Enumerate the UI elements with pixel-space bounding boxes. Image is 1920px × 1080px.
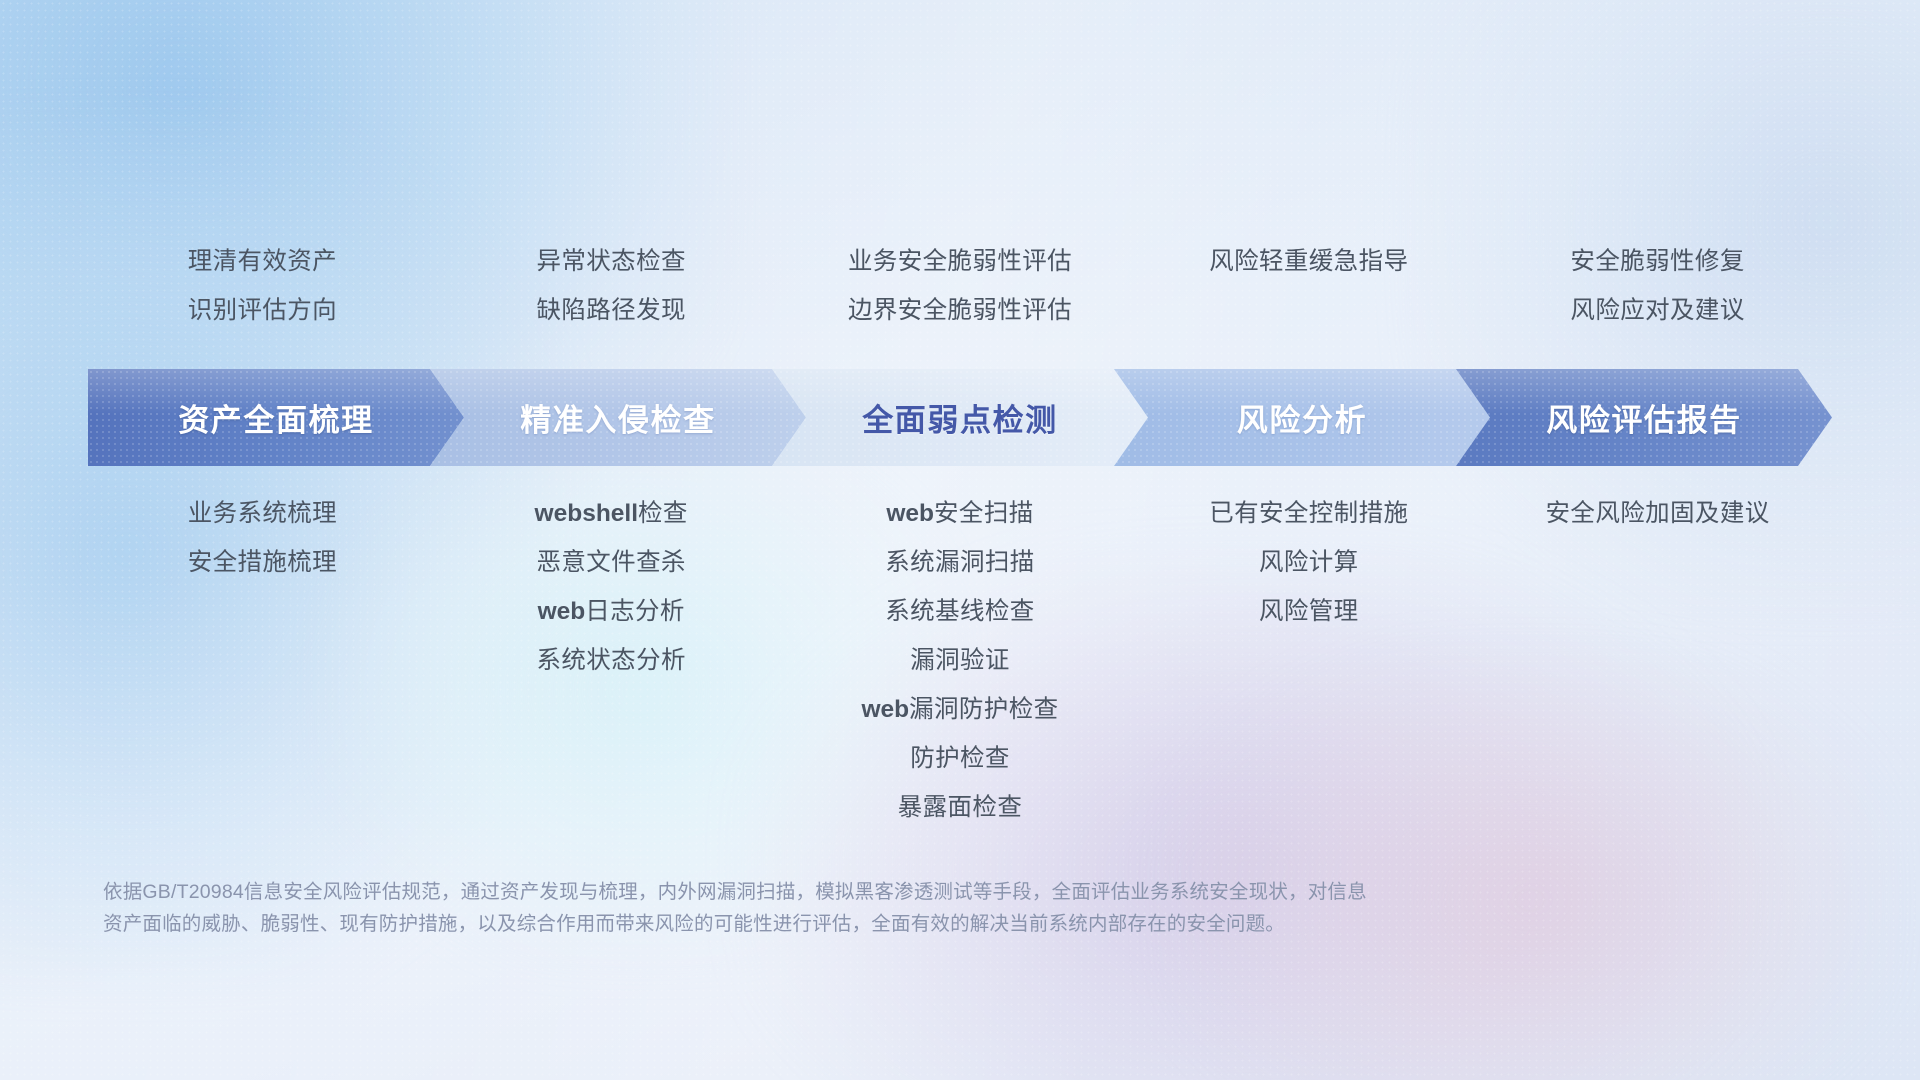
activity-text: 漏洞验证 [786,636,1135,685]
outcomes-col-2: 异常状态检查 缺陷路径发现 [437,237,786,335]
process-diagram: 理清有效资产 识别评估方向 异常状态检查 缺陷路径发现 业务安全脆弱性评估 边界… [0,0,1920,1080]
outcome-text: 业务安全脆弱性评估 [786,237,1135,286]
activity-text: web日志分析 [437,587,786,636]
step-label: 资产全面梳理 [178,395,374,440]
outcome-text: 识别评估方向 [88,286,437,335]
activity-text: web安全扫描 [786,489,1135,538]
activity-text: 风险管理 [1134,587,1483,636]
process-step-weakness-detection[interactable]: 全面弱点检测 [772,369,1148,466]
outcome-text: 边界安全脆弱性评估 [786,286,1135,335]
activities-col-2: webshell检查 恶意文件查杀 web日志分析 系统状态分析 [437,489,786,685]
activity-text: 安全措施梳理 [88,538,437,587]
process-step-asset-inventory[interactable]: 资产全面梳理 [88,369,464,466]
activities-col-5: 安全风险加固及建议 [1483,489,1832,538]
process-chevron-band: 资产全面梳理 精准入侵检查 全面弱点检测 风险分析 风险评估报告 [88,369,1832,466]
footer-description: 依据GB/T20984信息安全风险评估规范，通过资产发现与梳理，内外网漏洞扫描，… [103,876,1623,940]
process-step-intrusion-check[interactable]: 精准入侵检查 [430,369,806,466]
outcome-text: 异常状态检查 [437,237,786,286]
activity-text: 系统漏洞扫描 [786,538,1135,587]
outcomes-col-5: 安全脆弱性修复 风险应对及建议 [1483,237,1832,335]
activity-text: 系统状态分析 [437,636,786,685]
outcome-text: 风险轻重缓急指导 [1134,237,1483,286]
step-label: 精准入侵检查 [520,395,716,440]
activities-row: 业务系统梳理 安全措施梳理 webshell检查 恶意文件查杀 web日志分析 … [88,489,1832,832]
activity-text: 风险计算 [1134,538,1483,587]
outcomes-col-1: 理清有效资产 识别评估方向 [88,237,437,335]
activity-text: 系统基线检查 [786,587,1135,636]
outcomes-col-3: 业务安全脆弱性评估 边界安全脆弱性评估 [786,237,1135,335]
outcome-text: 缺陷路径发现 [437,286,786,335]
activity-text: 业务系统梳理 [88,489,437,538]
activities-col-1: 业务系统梳理 安全措施梳理 [88,489,437,587]
step-label: 风险评估报告 [1546,395,1742,440]
outcome-text: 风险应对及建议 [1483,286,1832,335]
activity-text: 暴露面检查 [786,783,1135,832]
outcomes-row: 理清有效资产 识别评估方向 异常状态检查 缺陷路径发现 业务安全脆弱性评估 边界… [88,237,1832,335]
outcomes-col-4: 风险轻重缓急指导 [1134,237,1483,335]
outcome-text: 理清有效资产 [88,237,437,286]
footer-line: 依据GB/T20984信息安全风险评估规范，通过资产发现与梳理，内外网漏洞扫描，… [103,876,1623,908]
step-label: 风险分析 [1237,395,1367,440]
footer-line: 资产面临的威胁、脆弱性、现有防护措施，以及综合作用而带来风险的可能性进行评估，全… [103,908,1623,940]
activity-text: webshell检查 [437,489,786,538]
activity-text: web漏洞防护检查 [786,685,1135,734]
process-step-risk-analysis[interactable]: 风险分析 [1114,369,1490,466]
activities-col-3: web安全扫描 系统漏洞扫描 系统基线检查 漏洞验证 web漏洞防护检查 防护检… [786,489,1135,832]
step-label: 全面弱点检测 [862,395,1058,440]
activity-text: 恶意文件查杀 [437,538,786,587]
process-step-assessment-report[interactable]: 风险评估报告 [1456,369,1832,466]
outcome-text: 安全脆弱性修复 [1483,237,1832,286]
activity-text: 已有安全控制措施 [1134,489,1483,538]
activity-text: 防护检查 [786,734,1135,783]
activity-text: 安全风险加固及建议 [1483,489,1832,538]
activities-col-4: 已有安全控制措施 风险计算 风险管理 [1134,489,1483,636]
